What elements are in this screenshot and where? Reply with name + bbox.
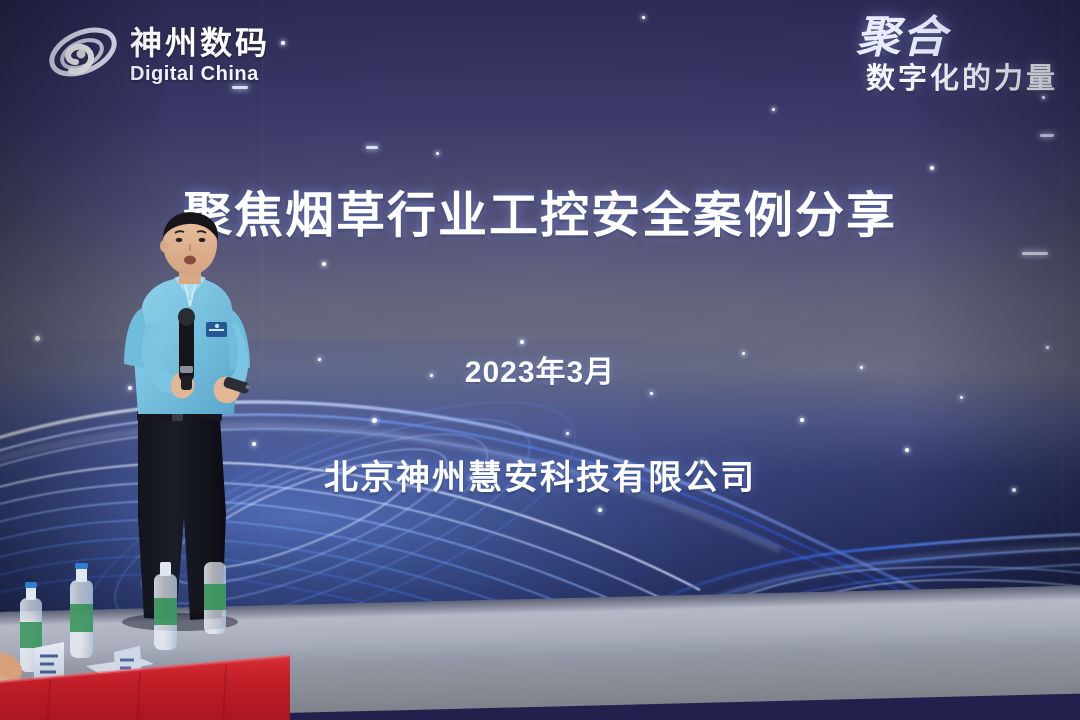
company-badge-icon — [206, 322, 227, 337]
brand-name-cn: 神州数码 — [130, 27, 270, 59]
handheld-microphone — [178, 308, 195, 390]
slogan-calligraphy: 聚合 — [856, 16, 948, 60]
event-slogan: 聚合 数字化的力量 — [856, 16, 1058, 96]
slogan-subtitle: 数字化的力量 — [856, 64, 1058, 96]
water-bottle — [154, 562, 177, 650]
brand-name-en: Digital China — [130, 64, 270, 84]
screenshot-root: 神州数码 Digital China 聚合 数字化的力量 聚焦烟草行业工控安全案… — [0, 0, 1080, 720]
brand-logo: 神州数码 Digital China — [46, 18, 270, 92]
panel-seam — [1062, 0, 1063, 660]
foreground-table — [0, 560, 290, 720]
water-bottle — [70, 563, 93, 658]
spiral-swirl-logo-icon — [46, 18, 120, 92]
water-bottle — [204, 562, 226, 634]
